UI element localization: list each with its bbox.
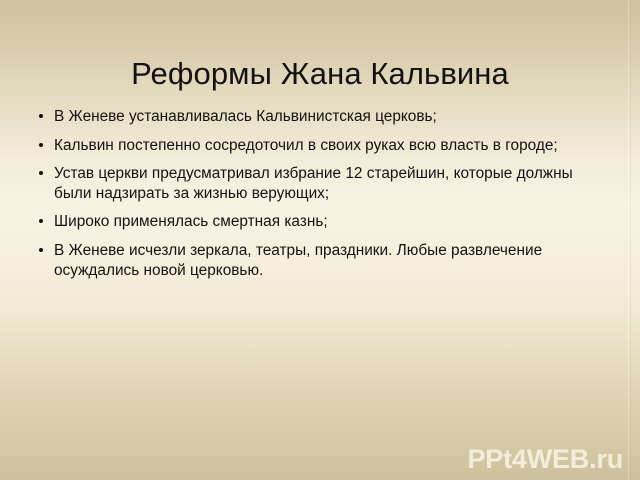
list-item-text: Устав церкви предусматривал избрание 12 … — [54, 164, 596, 203]
presentation-slide: Реформы Жана Кальвина В Женеве устанавли… — [0, 0, 640, 480]
list-item: В Женеве устанавливалась Кальвинистская … — [36, 107, 596, 127]
list-item-text: Широко применялась смертная казнь; — [54, 212, 596, 232]
watermark: PPt4WEB.ru — [467, 443, 623, 475]
bullet-dot-icon — [39, 171, 43, 175]
list-item: Устав церкви предусматривал избрание 12 … — [36, 164, 596, 203]
list-item-text: В Женеве исчезли зеркала, театры, праздн… — [54, 241, 596, 280]
list-item: Кальвин постепенно сосредоточил в своих … — [36, 136, 596, 156]
bullet-dot-icon — [39, 143, 43, 147]
page-title: Реформы Жана Кальвина — [0, 54, 640, 94]
bullet-list: В Женеве устанавливалась Кальвинистская … — [36, 107, 596, 280]
bullet-dot-icon — [39, 219, 43, 223]
list-item-text: В Женеве устанавливалась Кальвинистская … — [54, 107, 596, 127]
list-item: В Женеве исчезли зеркала, театры, праздн… — [36, 241, 596, 280]
bullet-dot-icon — [39, 248, 43, 252]
list-item: Широко применялась смертная казнь; — [36, 212, 596, 232]
list-item-text: Кальвин постепенно сосредоточил в своих … — [54, 136, 596, 156]
bullet-dot-icon — [39, 114, 43, 118]
